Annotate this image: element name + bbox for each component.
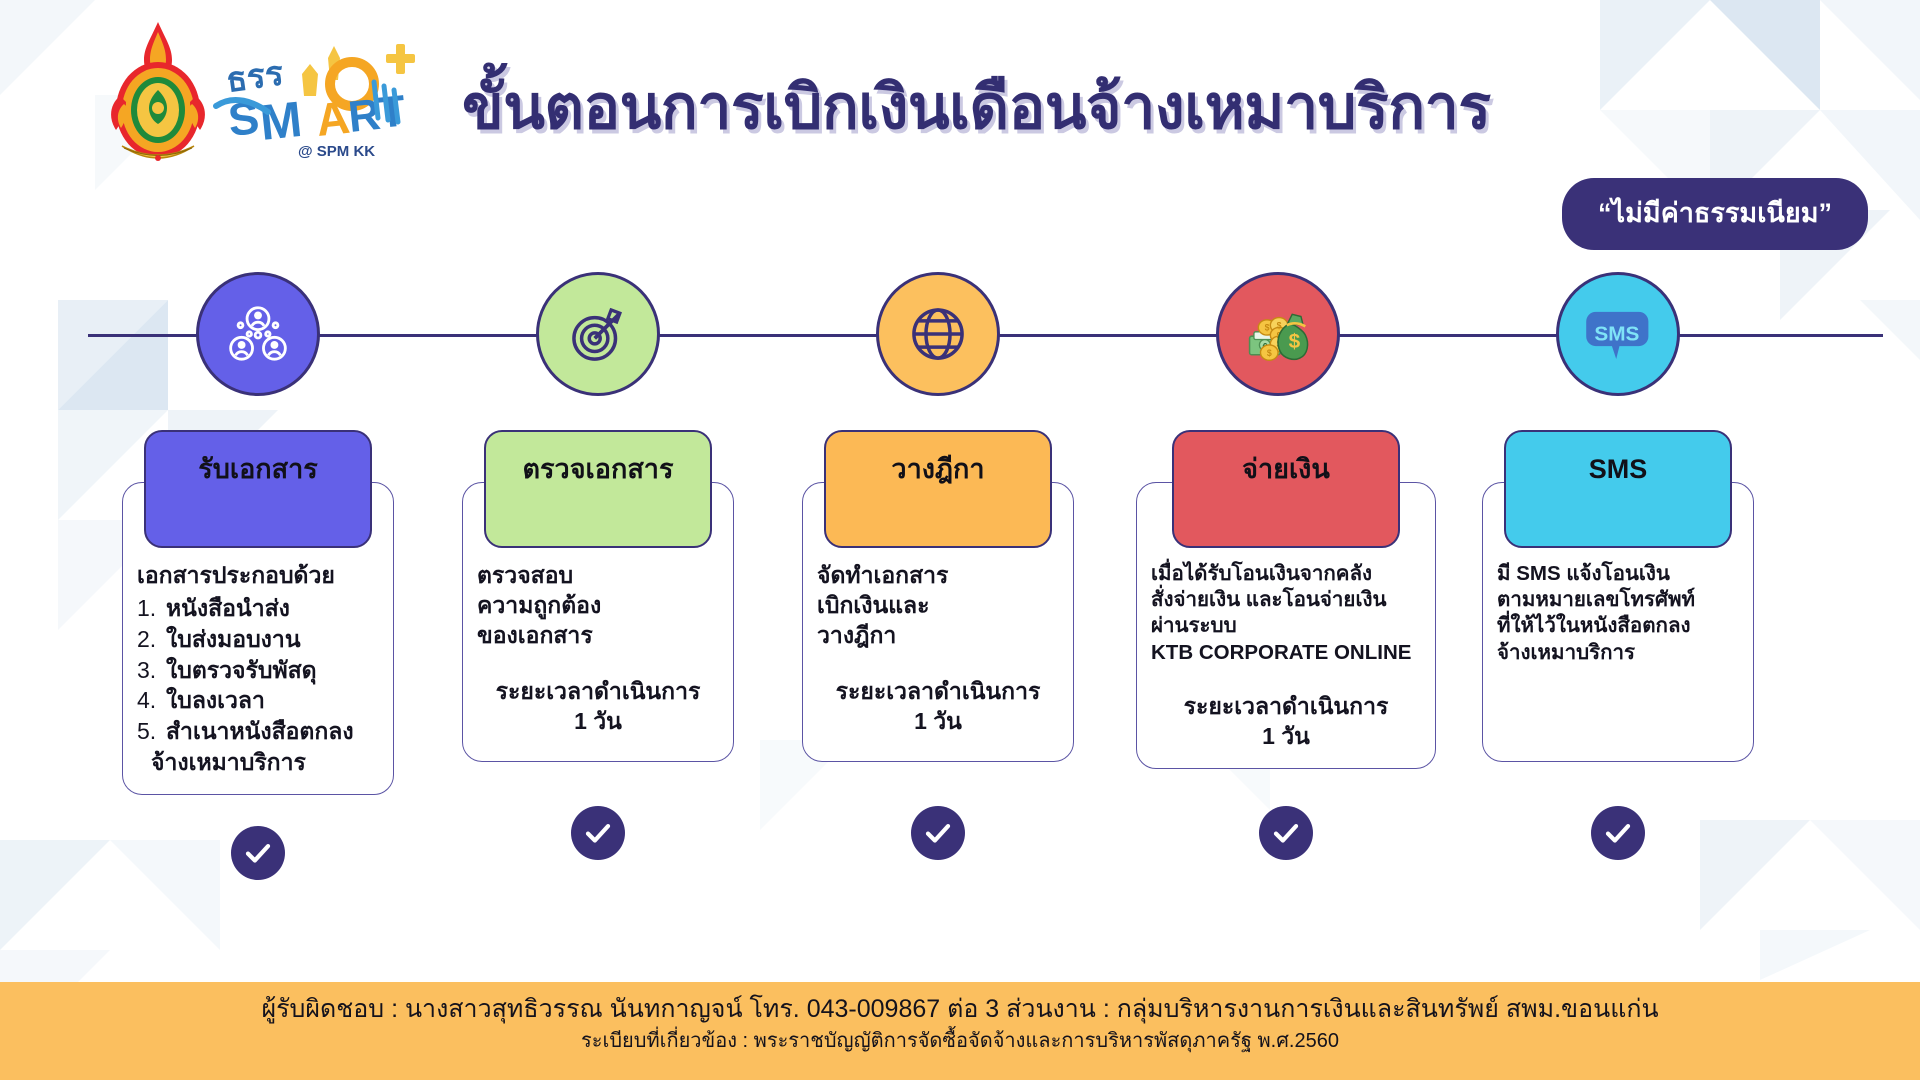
- step-5-lead: มี SMS แจ้งโอนเงิน ตามหมายเลขโทรศัพท์ ที…: [1497, 561, 1739, 666]
- step-5-title: SMS: [1589, 454, 1648, 485]
- footer-responsible-line: ผู้รับผิดชอบ : นางสาวสุทธิวรรณ นันทกาญจน…: [0, 993, 1920, 1027]
- list-item: 2.ใบส่งมอบงาน: [137, 624, 379, 655]
- people-network-icon: [223, 299, 293, 369]
- step-2-duration: ระยะเวลาดำเนินการ 1 วัน: [477, 677, 719, 737]
- duration-days: 1 วัน: [1151, 722, 1421, 752]
- step-1-document-list: 1.หนังสือนำส่ง 2.ใบส่งมอบงาน 3.ใบตรวจรับ…: [137, 593, 379, 747]
- item-number: 1.: [137, 593, 163, 624]
- check-icon: [243, 838, 273, 868]
- step-4-title: จ่ายเงิน: [1242, 454, 1330, 485]
- check-icon: [1271, 818, 1301, 848]
- money-bag-icon: € $$ $$ $ $: [1243, 299, 1313, 369]
- step-1-lead: เอกสารประกอบด้วย: [137, 561, 379, 591]
- infographic-page: ธรร S M A R T @ SPM KK: [0, 0, 1920, 1080]
- svg-text:@ SPM KK: @ SPM KK: [298, 143, 375, 160]
- duration-label: ระยะเวลาดำเนินการ: [496, 678, 701, 704]
- item-text: ใบส่งมอบงาน: [166, 624, 379, 655]
- step-3-lead: จัดทำเอกสาร เบิกเงินและ วางฎีกา: [817, 561, 1059, 651]
- footer-bar: ผู้รับผิดชอบ : นางสาวสุทธิวรรณ นันทกาญจน…: [0, 982, 1920, 1080]
- item-number: 4.: [137, 685, 163, 716]
- timeline-node-4[interactable]: € $$ $$ $ $: [1216, 272, 1340, 396]
- svg-text:$: $: [1265, 323, 1270, 333]
- step-4-check-badge: [1259, 806, 1313, 860]
- list-item: 5.สำเนาหนังสือตกลง: [137, 716, 379, 747]
- check-icon: [583, 818, 613, 848]
- svg-text:$: $: [1289, 330, 1301, 353]
- item-text: หนังสือนำส่ง: [166, 593, 379, 624]
- list-item: 3.ใบตรวจรับพัสดุ: [137, 655, 379, 686]
- timeline-node-3[interactable]: [876, 272, 1000, 396]
- item-number: 3.: [137, 655, 163, 686]
- sms-bubble-icon: SMS: [1583, 299, 1653, 369]
- step-column-2: ตรวจเอกสาร ตรวจสอบ ความถูกต้อง ของเอกสาร…: [462, 430, 734, 762]
- step-4-header[interactable]: จ่ายเงิน: [1172, 430, 1400, 548]
- step-3-header[interactable]: วางฎีกา: [824, 430, 1052, 548]
- footer-regulation-line: ระเบียบที่เกี่ยวข้อง : พระราชบัญญัติการจ…: [0, 1027, 1920, 1055]
- step-2-header[interactable]: ตรวจเอกสาร: [484, 430, 712, 548]
- svg-text:$: $: [1267, 348, 1272, 358]
- step-4-lead: เมื่อได้รับโอนเงินจากคลัง สั่งจ่ายเงิน แ…: [1151, 561, 1421, 666]
- step-3-duration: ระยะเวลาดำเนินการ 1 วัน: [817, 677, 1059, 737]
- timeline-node-2[interactable]: [536, 272, 660, 396]
- svg-text:T: T: [376, 86, 408, 138]
- list-item: 1.หนังสือนำส่ง: [137, 593, 379, 624]
- step-4-duration: ระยะเวลาดำเนินการ 1 วัน: [1151, 692, 1421, 752]
- step-5-header[interactable]: SMS: [1504, 430, 1732, 548]
- step-column-3: วางฎีกา จัดทำเอกสาร เบิกเงินและ วางฎีกา …: [802, 430, 1074, 762]
- thai-garuda-emblem-icon: [104, 18, 212, 168]
- smart-logo: ธรร S M A R T @ SPM KK: [210, 40, 440, 160]
- step-2-title: ตรวจเอกสาร: [523, 454, 674, 485]
- header: ธรร S M A R T @ SPM KK: [0, 0, 1920, 200]
- step-5-check-badge: [1591, 806, 1645, 860]
- check-icon: [923, 818, 953, 848]
- svg-text:$: $: [1277, 321, 1282, 331]
- step-3-title: วางฎีกา: [891, 454, 984, 485]
- svg-text:M: M: [257, 91, 304, 151]
- list-item: 4.ใบลงเวลา: [137, 685, 379, 716]
- duration-days: 1 วัน: [477, 707, 719, 737]
- globe-icon: [903, 299, 973, 369]
- item-number: 5.: [137, 716, 163, 747]
- step-1-header[interactable]: รับเอกสาร: [144, 430, 372, 548]
- item-text: ใบลงเวลา: [166, 685, 379, 716]
- item-text: ใบตรวจรับพัสดุ: [166, 655, 379, 686]
- check-icon: [1603, 818, 1633, 848]
- item-number: 2.: [137, 624, 163, 655]
- page-title: ขั้นตอนการเบิกเงินเดือนจ้างเหมาบริการ: [462, 58, 1491, 155]
- duration-label: ระยะเวลาดำเนินการ: [836, 678, 1041, 704]
- duration-label: ระยะเวลาดำเนินการ: [1184, 693, 1389, 719]
- duration-days: 1 วัน: [817, 707, 1059, 737]
- step-2-lead: ตรวจสอบ ความถูกต้อง ของเอกสาร: [477, 561, 719, 651]
- target-dart-icon: [563, 299, 633, 369]
- step-column-1: รับเอกสาร เอกสารประกอบด้วย 1.หนังสือนำส่…: [122, 430, 394, 795]
- step-2-check-badge: [571, 806, 625, 860]
- step-3-check-badge: [911, 806, 965, 860]
- step-column-4: จ่ายเงิน เมื่อได้รับโอนเงินจากคลัง สั่งจ…: [1136, 430, 1436, 769]
- timeline-node-5[interactable]: SMS: [1556, 272, 1680, 396]
- step-column-5: SMS มี SMS แจ้งโอนเงิน ตามหมายเลขโทรศัพท…: [1482, 430, 1754, 762]
- step-1-title: รับเอกสาร: [198, 454, 318, 485]
- timeline-node-1[interactable]: [196, 272, 320, 396]
- svg-text:SMS: SMS: [1594, 323, 1639, 346]
- step-1-check-badge: [231, 826, 285, 880]
- step-1-list-continuation: จ้างเหมาบริการ: [137, 747, 379, 778]
- item-text: สำเนาหนังสือตกลง: [166, 716, 379, 747]
